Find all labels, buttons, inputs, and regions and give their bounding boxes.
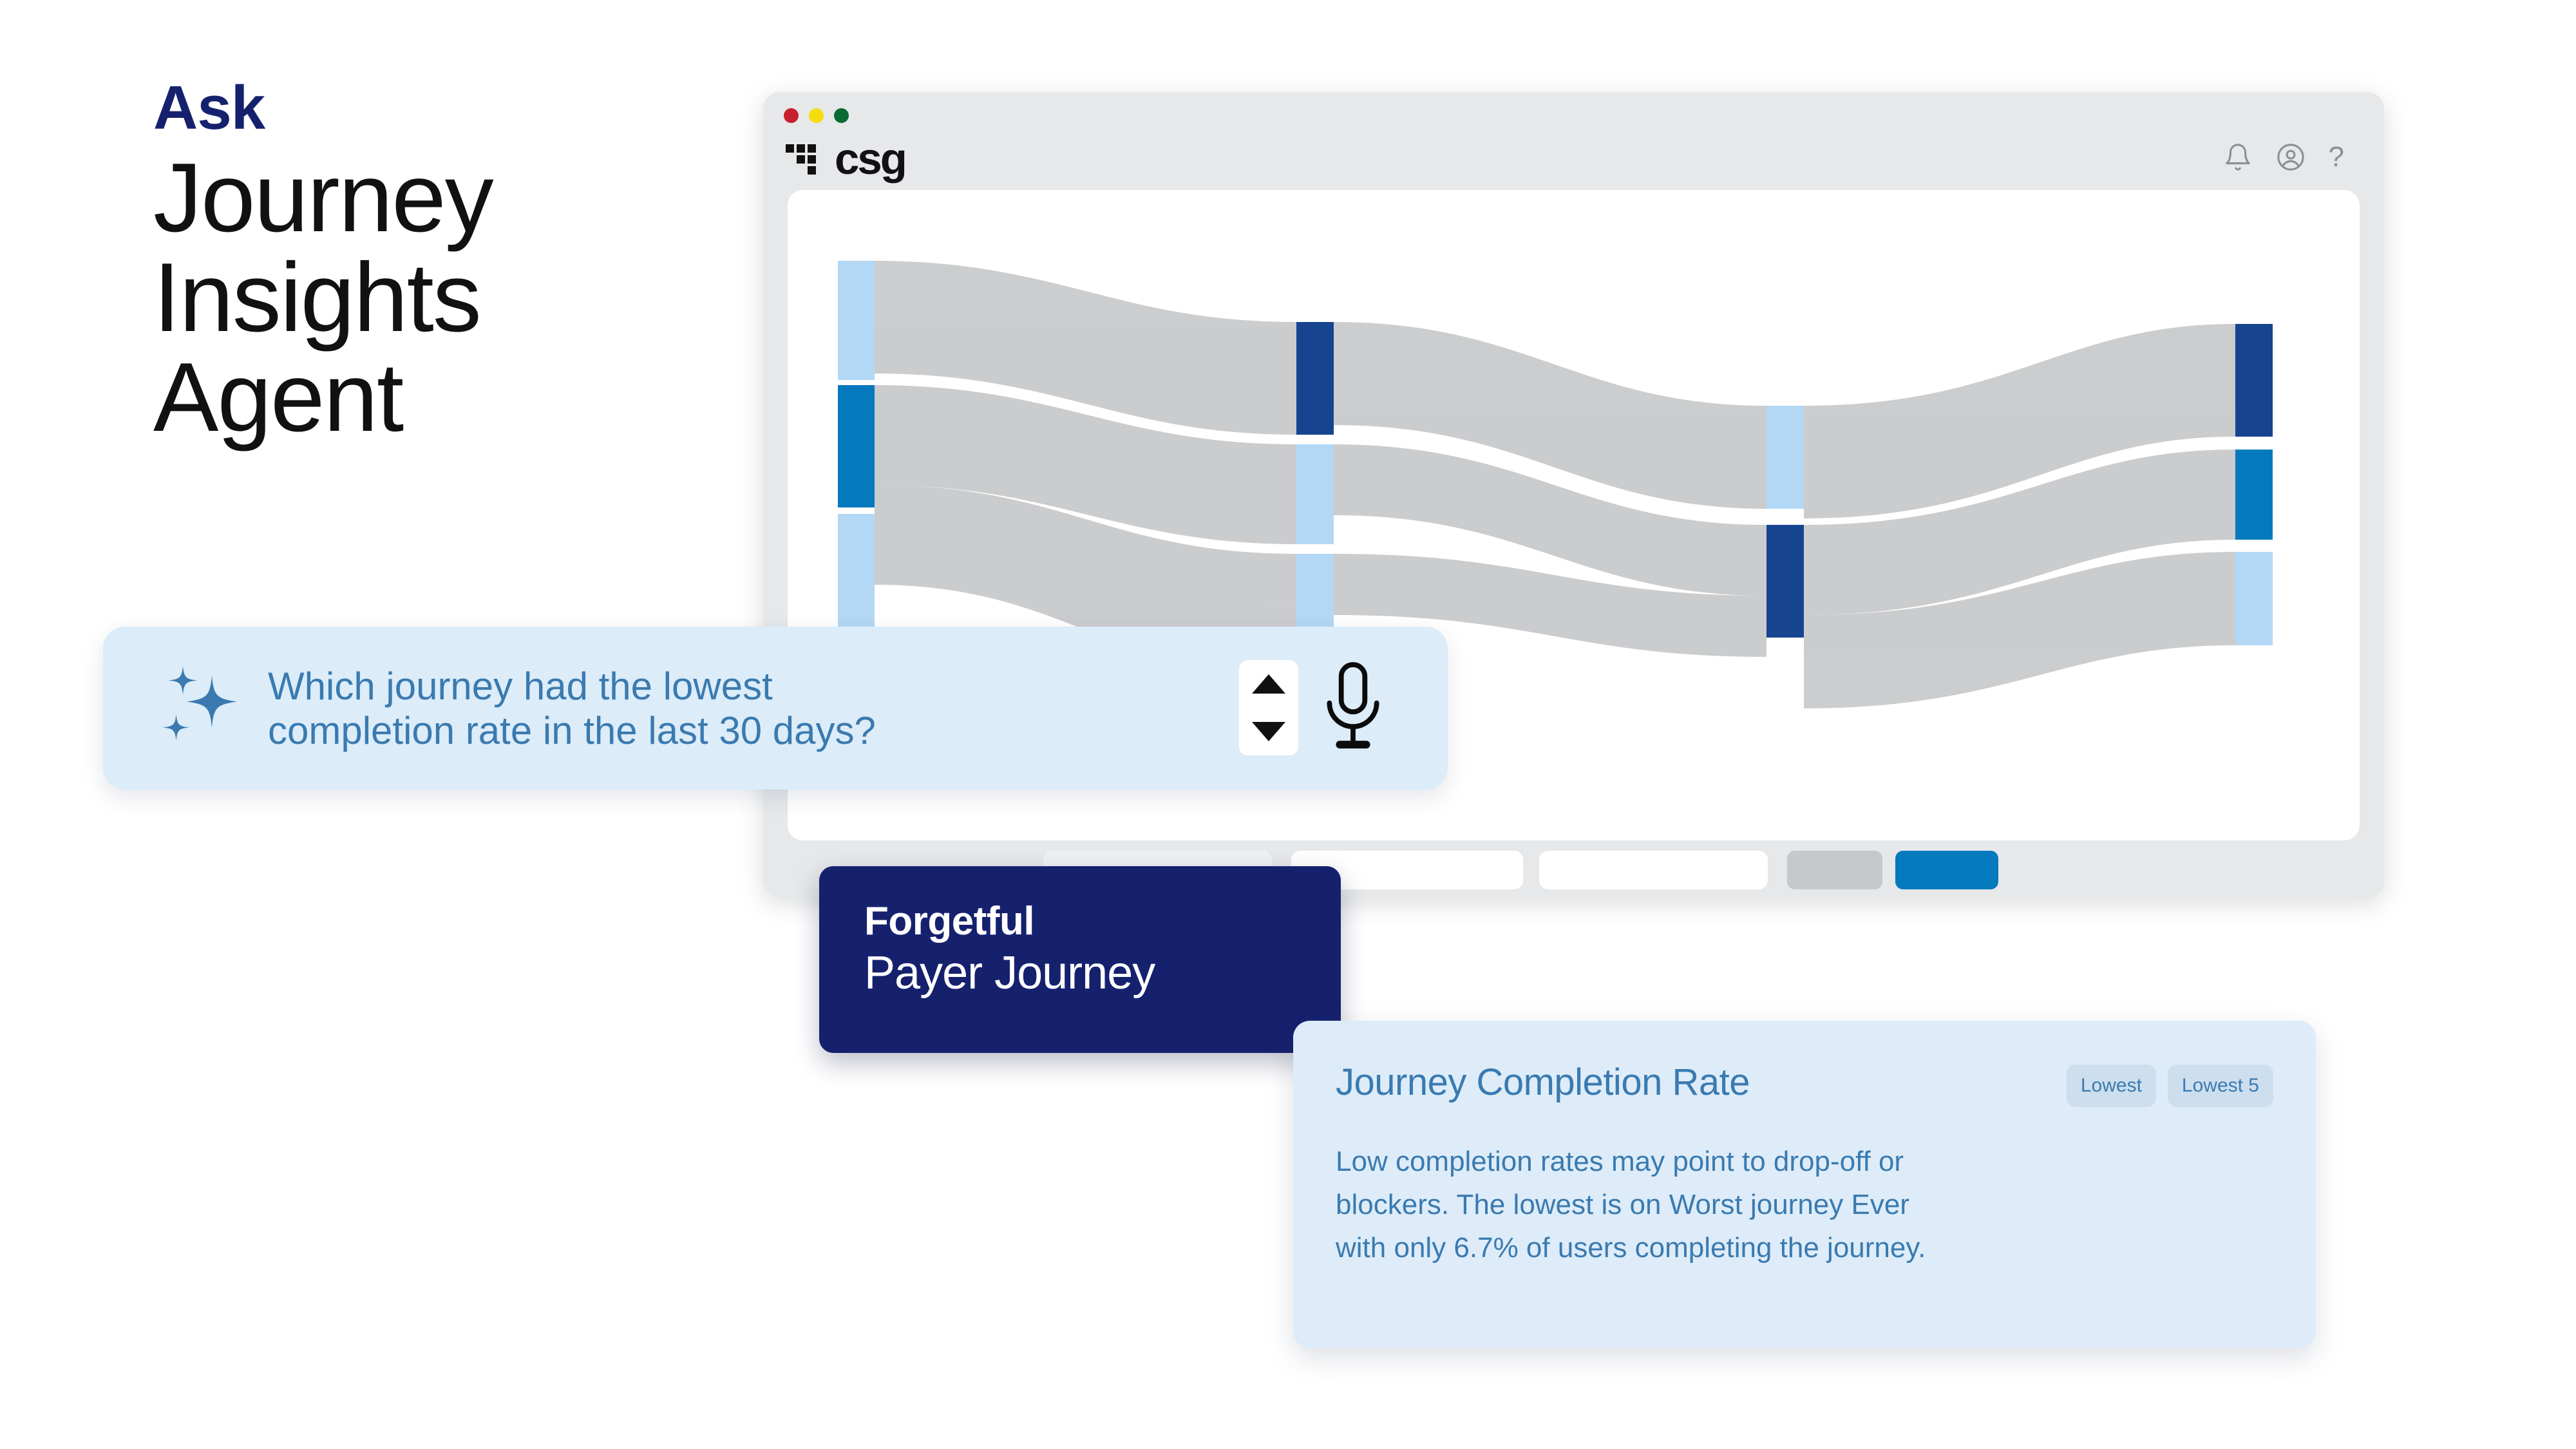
sparkles-icon <box>156 660 252 757</box>
value-stepper[interactable] <box>1239 660 1298 755</box>
journey-badge-name: Payer Journey <box>864 947 1341 999</box>
stepper-down-icon[interactable] <box>1252 722 1285 741</box>
headline-main: Journey Insights Agent <box>153 148 493 448</box>
sankey-node <box>1766 525 1804 638</box>
chip-lowest-5[interactable]: Lowest 5 <box>2168 1065 2273 1107</box>
sankey-node <box>1296 322 1334 435</box>
page-title: Ask Journey Insights Agent <box>153 77 493 448</box>
insight-title: Journey Completion Rate <box>1336 1061 2067 1104</box>
prompt-bubble[interactable]: Which journey had the lowest completion … <box>103 627 1448 790</box>
sankey-node <box>1296 444 1334 544</box>
window-header-actions: ? <box>2223 142 2344 172</box>
insight-header: Journey Completion Rate Lowest Lowest 5 <box>1336 1061 2273 1107</box>
sankey-node <box>838 261 875 380</box>
minimize-window-icon[interactable] <box>809 108 824 123</box>
journey-badge-label: Forgetful <box>864 900 1341 943</box>
csg-wordmark: csg <box>835 141 905 178</box>
close-window-icon[interactable] <box>784 108 799 123</box>
headline-eyebrow: Ask <box>153 77 493 139</box>
sankey-node <box>2235 324 2273 437</box>
prompt-text: Which journey had the lowest completion … <box>268 664 876 753</box>
insight-body: Low completion rates may point to drop-o… <box>1336 1141 2273 1270</box>
toolbar-secondary-button[interactable] <box>1787 851 1882 889</box>
csg-logo-mark-icon <box>786 139 831 178</box>
chip-lowest[interactable]: Lowest <box>2067 1065 2156 1107</box>
sankey-node <box>838 514 875 636</box>
csg-logo: csg <box>786 139 905 178</box>
maximize-window-icon[interactable] <box>834 108 849 123</box>
notification-bell-icon[interactable] <box>2223 142 2253 172</box>
toolbar-primary-button[interactable] <box>1895 851 1998 889</box>
user-account-icon[interactable] <box>2276 142 2306 172</box>
sankey-node <box>1766 406 1804 509</box>
sankey-node <box>2235 450 2273 540</box>
headline-line-1: Journey <box>153 148 493 248</box>
insight-card: Journey Completion Rate Lowest Lowest 5 … <box>1293 1021 2316 1348</box>
sankey-node <box>2235 552 2273 645</box>
page-root: Ask Journey Insights Agent csg <box>0 0 2576 1449</box>
journey-badge: Forgetful Payer Journey <box>819 866 1341 1053</box>
toolbar-field-3[interactable] <box>1539 851 1768 889</box>
help-question-icon[interactable]: ? <box>2329 143 2344 171</box>
insight-chips: Lowest Lowest 5 <box>2067 1061 2273 1107</box>
window-controls[interactable] <box>784 108 849 123</box>
headline-line-3: Agent <box>153 348 493 448</box>
headline-line-2: Insights <box>153 248 493 348</box>
microphone-icon[interactable] <box>1318 658 1388 757</box>
sankey-node <box>838 385 875 507</box>
stepper-up-icon[interactable] <box>1252 674 1285 694</box>
sankey-node <box>1296 554 1334 638</box>
